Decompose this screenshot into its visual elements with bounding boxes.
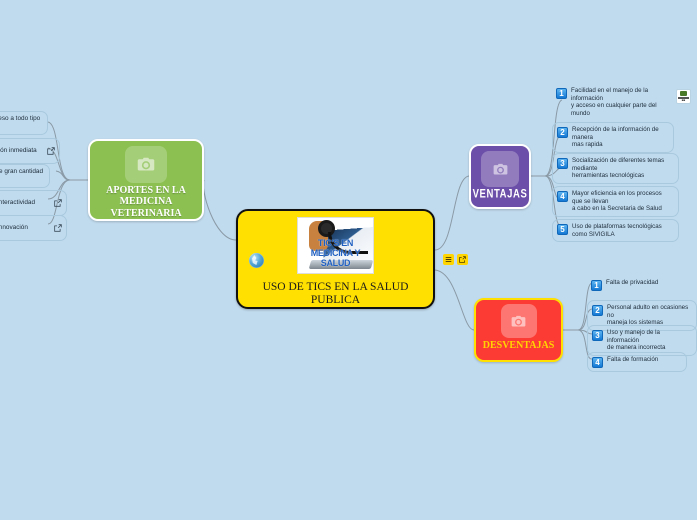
list-item[interactable]: 1 Falta de privacidad [587, 276, 687, 294]
branch-label-ventajas: VENTAJAS [473, 188, 528, 202]
list-item-label: Uso de plataformas tecnológicas como SIV… [572, 223, 662, 238]
item-number-badge: 4 [592, 357, 603, 368]
list-item-label: ...to de gran cantidad ...n [0, 168, 45, 184]
list-item[interactable]: 5 Uso de plataformas tecnológicas como S… [552, 219, 679, 242]
item-number-badge: 1 [591, 280, 602, 291]
notes-button[interactable] [443, 254, 454, 265]
list-item[interactable]: ...icación inmediata [0, 138, 60, 164]
central-topic-tools[interactable] [443, 254, 468, 265]
list-item-label: Innovación [0, 224, 49, 232]
item-number-badge: 3 [557, 158, 568, 169]
list-item-label: Socialización de diferentes temas median… [572, 157, 664, 180]
camera-icon [481, 151, 519, 187]
list-item-label: ...acceso a todo tipo ...n [0, 115, 43, 131]
central-topic-title: USO DE TICS EN LA SALUD PUBLICA [238, 281, 433, 307]
globe-icon[interactable] [249, 253, 264, 268]
list-item-label: Uso y manejo de la información de manera… [607, 329, 690, 352]
list-item[interactable]: ...acceso a todo tipo ...n [0, 111, 48, 135]
camera-icon [501, 304, 537, 338]
list-item[interactable]: ...to de gran cantidad ...n [0, 164, 50, 188]
external-link-icon[interactable] [54, 194, 62, 212]
branch-label-desventajas: DESVENTAJAS [483, 340, 555, 351]
branch-node-ventajas[interactable]: VENTAJAS [469, 144, 531, 209]
central-image-caption: TIC'S EN MEDICINA Y SALUD [298, 238, 373, 268]
external-link-icon[interactable] [47, 142, 55, 160]
list-item[interactable]: 2 Recepción de la información de manera … [552, 122, 674, 153]
open-link-button[interactable] [457, 254, 468, 265]
mindmap-canvas[interactable]: APORTES EN LA MEDICINA VETERINARIA ...ac… [0, 0, 697, 520]
branch-node-desventajas[interactable]: DESVENTAJAS [474, 298, 563, 362]
list-item[interactable]: ✓ Innovación [0, 215, 67, 241]
central-topic-image: TIC'S EN MEDICINA Y SALUD [297, 217, 374, 274]
central-topic[interactable]: TIC'S EN MEDICINA Y SALUD USO DE TICS EN… [236, 209, 435, 309]
camera-icon [125, 146, 167, 183]
list-item[interactable]: ✓ Interactividad [0, 190, 67, 216]
list-item-label: Falta de privacidad [606, 279, 658, 287]
item-number-badge: 2 [592, 305, 603, 316]
list-item[interactable]: 4 Falta de formación [587, 352, 687, 372]
item-number-badge: 5 [557, 224, 568, 235]
list-item-label: ...icación inmediata [0, 147, 42, 155]
list-item-label: Recepción de la información de manera ma… [572, 126, 659, 149]
list-item-label: Personal adulto en ocasiones no maneja l… [607, 304, 690, 327]
list-item-label: Falta de formación [607, 356, 658, 364]
item-number-badge: 1 [556, 88, 567, 99]
external-link-icon[interactable] [54, 219, 62, 237]
list-item[interactable]: 4 Mayor eficiencia en los procesos que s… [552, 186, 679, 217]
item-number-badge: 3 [592, 330, 603, 341]
branch-label-aportes: APORTES EN LA MEDICINA VETERINARIA [90, 185, 202, 220]
list-item-label: Mayor eficiencia en los procesos que se … [572, 190, 662, 213]
item-number-badge: 4 [557, 191, 568, 202]
list-item-label: Facilidad en el manejo de la información… [571, 87, 657, 117]
list-item[interactable]: 1 Facilidad en el manejo de la informaci… [552, 84, 674, 120]
list-item[interactable]: 3 Socialización de diferentes temas medi… [552, 153, 679, 184]
branch-node-aportes[interactable]: APORTES EN LA MEDICINA VETERINARIA [88, 139, 204, 221]
item-number-badge: 2 [557, 127, 568, 138]
image-thumbnail-icon[interactable]: ■■ [676, 89, 691, 104]
list-item-label: Interactividad [0, 199, 49, 207]
